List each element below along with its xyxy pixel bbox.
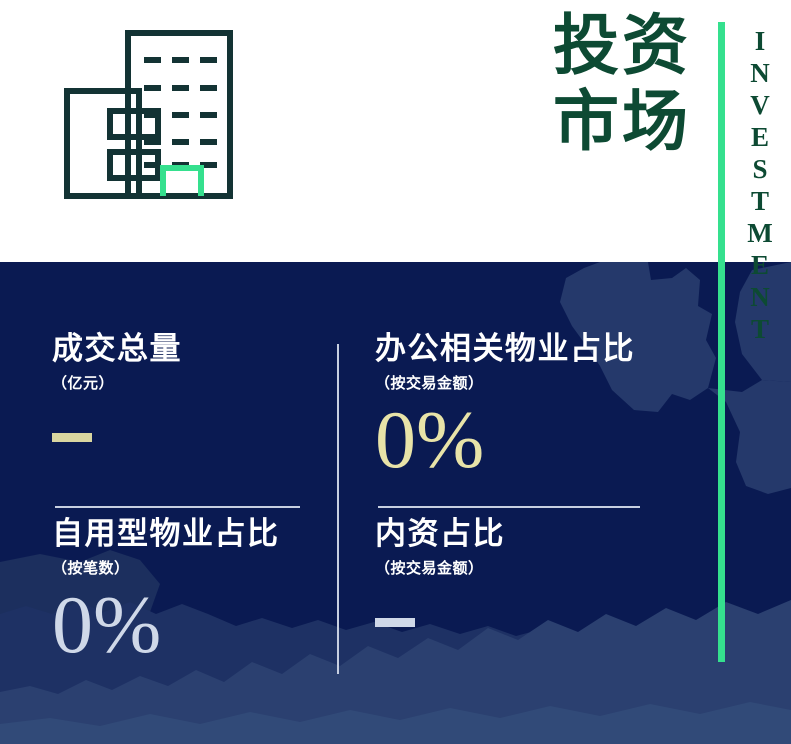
metric-unit: （按笔数） bbox=[52, 557, 322, 578]
metric-value: 0% bbox=[52, 586, 322, 664]
horizontal-divider-right bbox=[378, 506, 640, 508]
metrics-panel: 成交总量 （亿元） 办公相关物业占比 （按交易金额） 0% 自用型物业占比 （按… bbox=[0, 262, 791, 744]
green-accent-rule bbox=[718, 22, 725, 662]
title-line-2: 市场 bbox=[511, 90, 691, 156]
metric-value-dash bbox=[52, 433, 92, 442]
metric-title: 内资占比 bbox=[375, 517, 695, 551]
office-building-icon bbox=[62, 28, 247, 203]
metric-card-office-share: 办公相关物业占比 （按交易金额） 0% bbox=[375, 332, 695, 479]
metric-title: 自用型物业占比 bbox=[52, 517, 322, 551]
title-line-1: 投资 bbox=[511, 14, 691, 80]
metric-unit: （亿元） bbox=[52, 372, 322, 393]
metric-card-self-use-share: 自用型物业占比 （按笔数） 0% bbox=[52, 517, 322, 664]
metric-card-total-volume: 成交总量 （亿元） bbox=[52, 332, 322, 442]
metric-title: 办公相关物业占比 bbox=[375, 332, 695, 366]
metric-unit: （按交易金额） bbox=[375, 372, 695, 393]
metric-value: 0% bbox=[375, 401, 695, 479]
metrics-grid: 成交总量 （亿元） 办公相关物业占比 （按交易金额） 0% 自用型物业占比 （按… bbox=[0, 262, 791, 744]
vertical-divider bbox=[337, 344, 339, 674]
investment-market-infographic: 投资 市场 INVESTMENT 成交总量 （亿元） bbox=[0, 0, 791, 744]
metric-unit: （按交易金额） bbox=[375, 557, 695, 578]
header-band: 投资 市场 INVESTMENT bbox=[0, 0, 791, 262]
metric-value-dash bbox=[375, 618, 415, 627]
metric-card-domestic-capital-share: 内资占比 （按交易金额） bbox=[375, 517, 695, 627]
horizontal-divider-left bbox=[55, 506, 300, 508]
metric-title: 成交总量 bbox=[52, 332, 322, 366]
page-title: 投资 市场 bbox=[511, 14, 691, 156]
